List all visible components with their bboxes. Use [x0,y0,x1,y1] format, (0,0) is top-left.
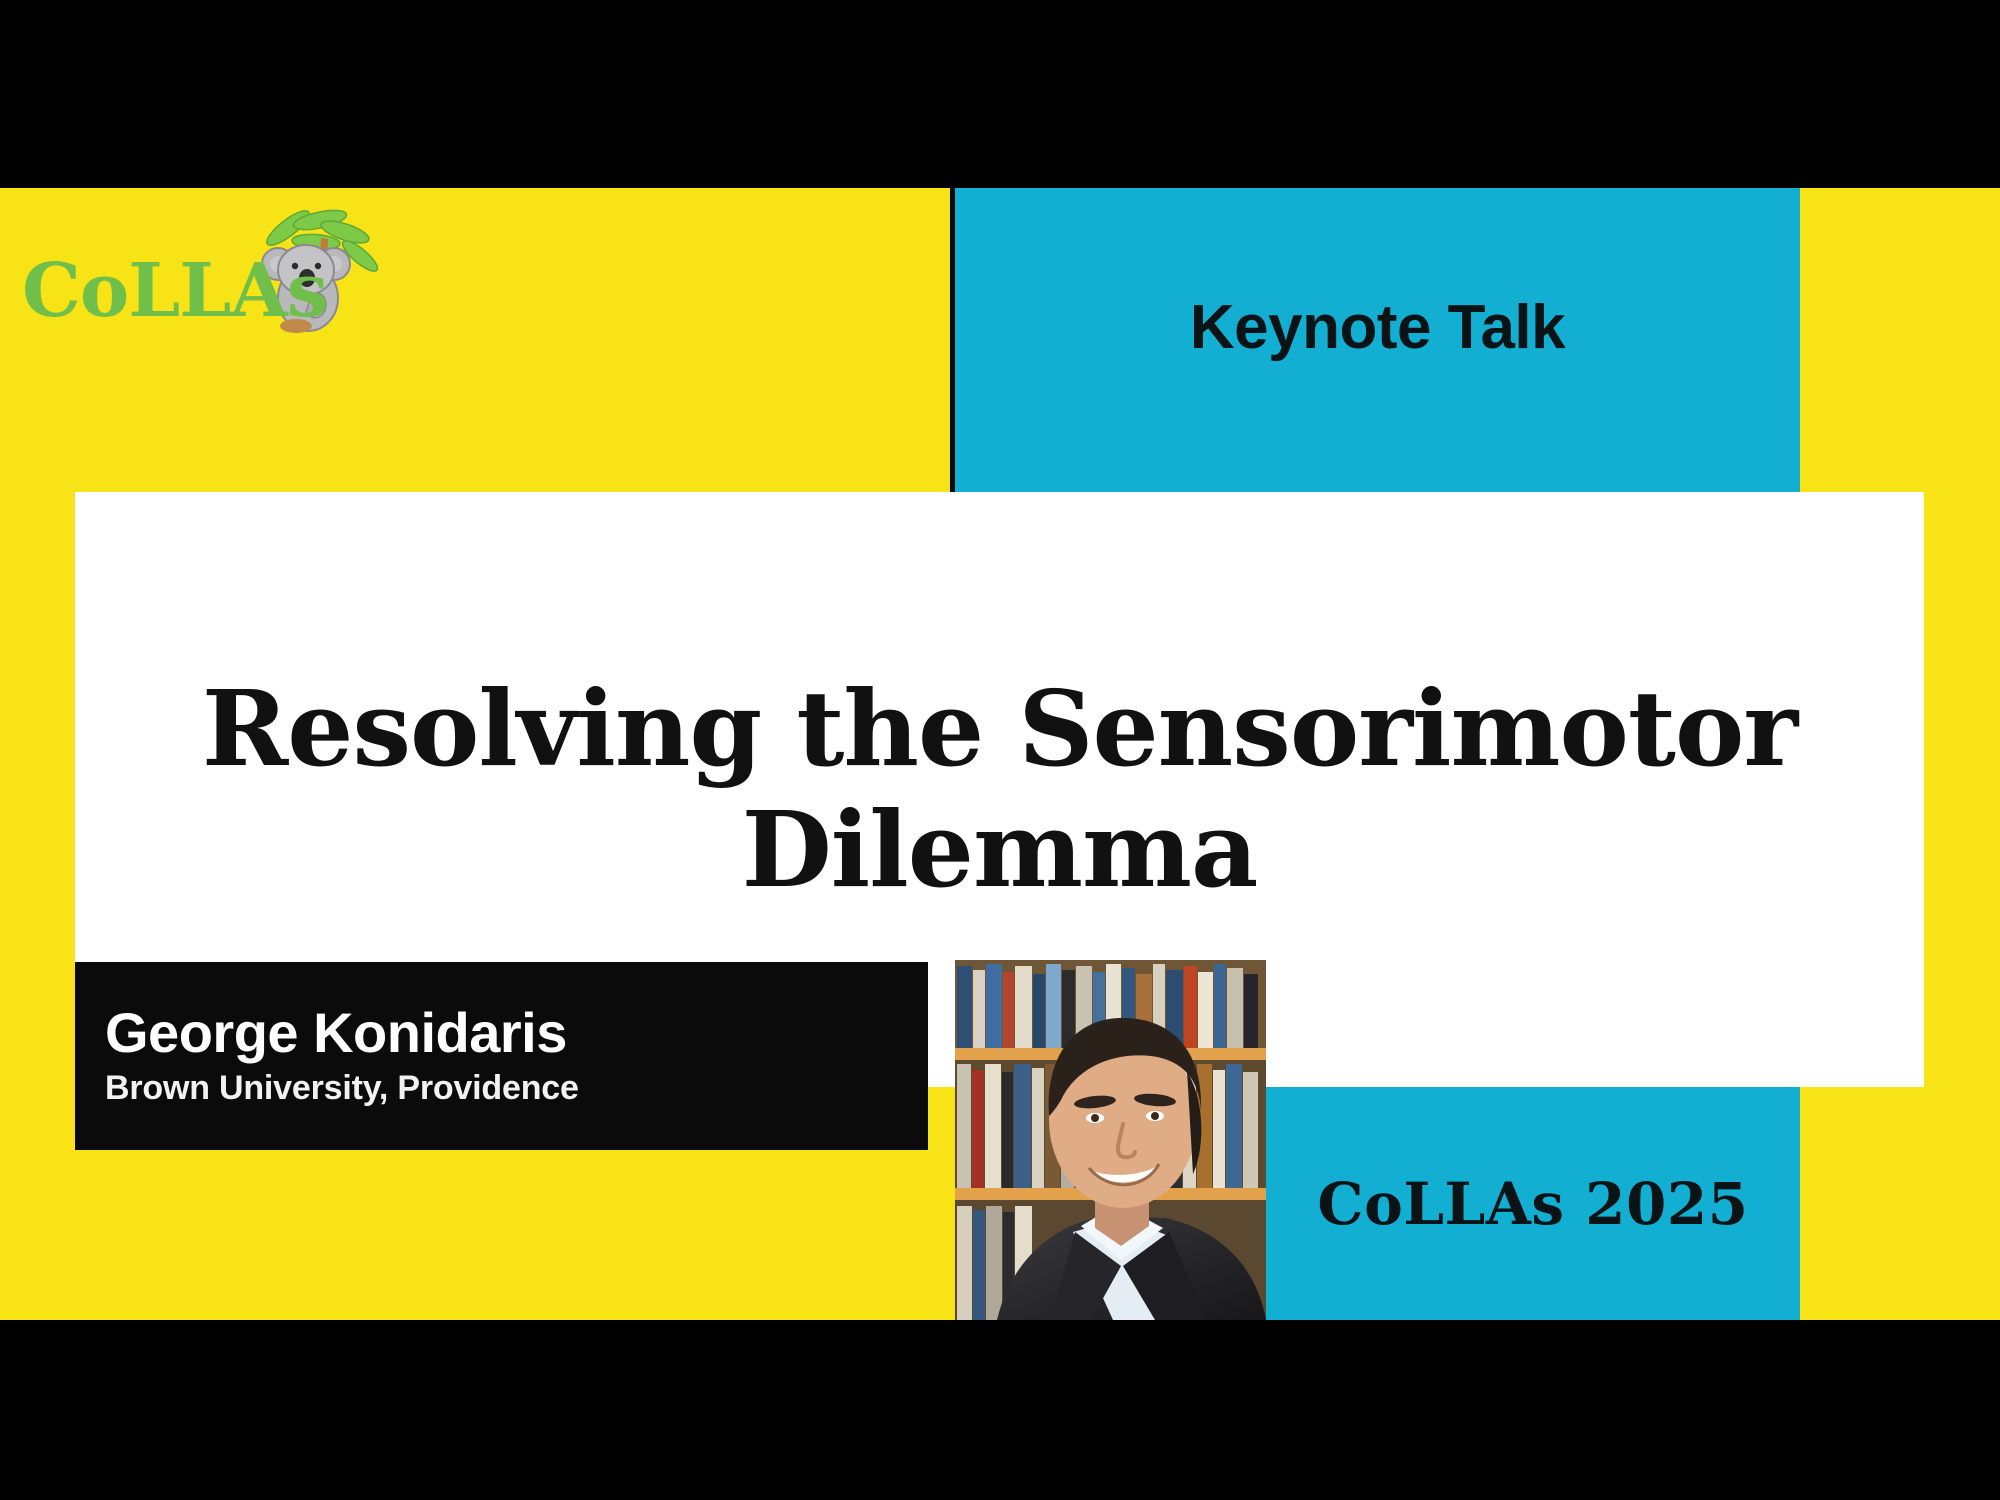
conference-block: CoLLAs 2025 [1266,1087,1800,1320]
talk-title-line-2: Dilemma [742,790,1258,911]
presentation-slide: CoLLAs Keynote Talk Resolving the Sensor… [0,188,2000,1320]
letterbox-top [0,0,2000,188]
talk-title-line-1: Resolving the Sensorimotor [202,669,1797,790]
letterbox-bottom [0,1320,2000,1500]
speaker-bar: George Konidaris Brown University, Provi… [75,962,928,1150]
keynote-label: Keynote Talk [1190,292,1565,397]
speaker-affiliation: Brown University, Providence [105,1069,928,1108]
keynote-banner: Keynote Talk [955,188,1800,500]
svg-text:CoLLAs: CoLLAs [22,248,327,334]
speaker-name: George Konidaris [105,1004,928,1061]
collas-logo: CoLLAs [20,198,440,348]
slide-stage: CoLLAs Keynote Talk Resolving the Sensor… [0,0,2000,1500]
conference-label: CoLLAs 2025 [1317,1170,1748,1238]
speaker-headshot [955,960,1266,1320]
